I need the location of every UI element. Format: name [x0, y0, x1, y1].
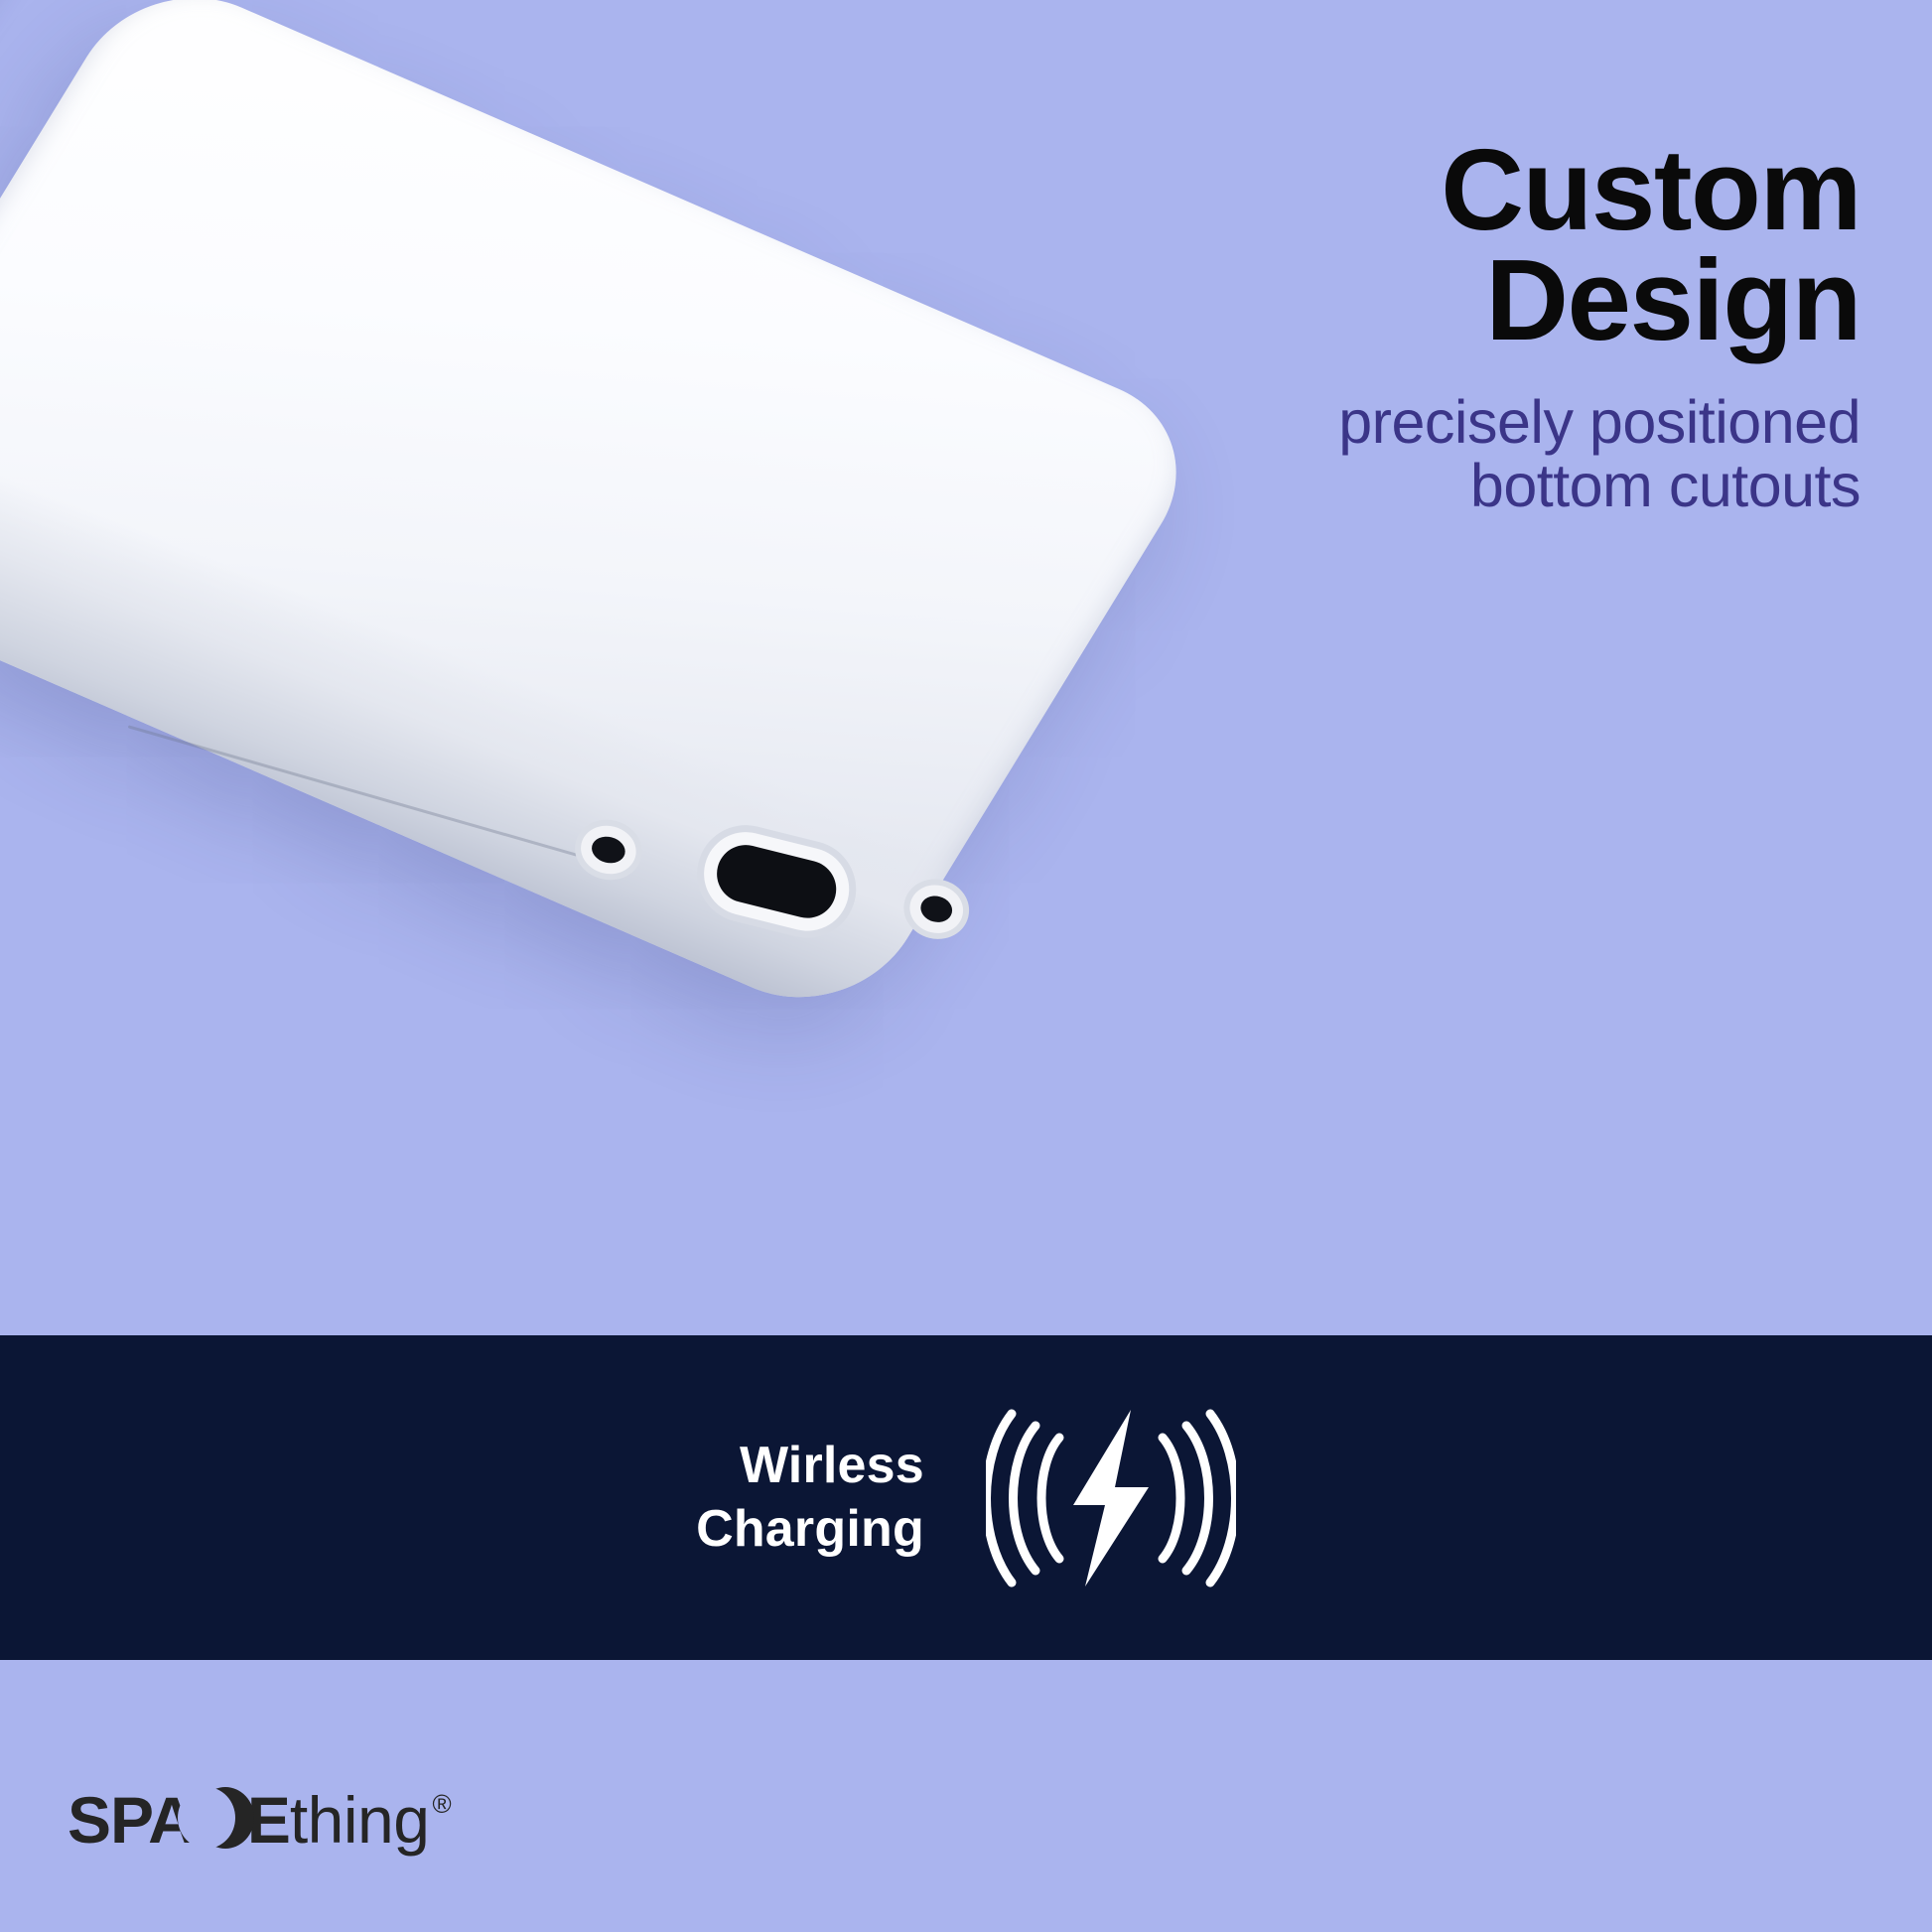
page-subtitle: precisely positioned bottom cutouts [808, 390, 1861, 517]
crescent-moon-icon [197, 1787, 246, 1849]
logo-thing-text: thing [290, 1787, 430, 1853]
feature-banner-content: Wirless Charging [0, 1335, 1932, 1660]
feature-banner-label: Wirless Charging [696, 1435, 924, 1561]
brand-logo: SPA E thing ® [68, 1787, 452, 1853]
product-marketing-image: Custom Design precisely positioned botto… [0, 0, 1932, 1932]
page-title: Custom Design [808, 135, 1861, 356]
headline-block: Custom Design precisely positioned botto… [808, 135, 1861, 517]
wireless-charging-icon [986, 1404, 1236, 1592]
logo-space-text: SPA [68, 1787, 195, 1853]
registered-trademark-icon: ® [432, 1791, 451, 1817]
